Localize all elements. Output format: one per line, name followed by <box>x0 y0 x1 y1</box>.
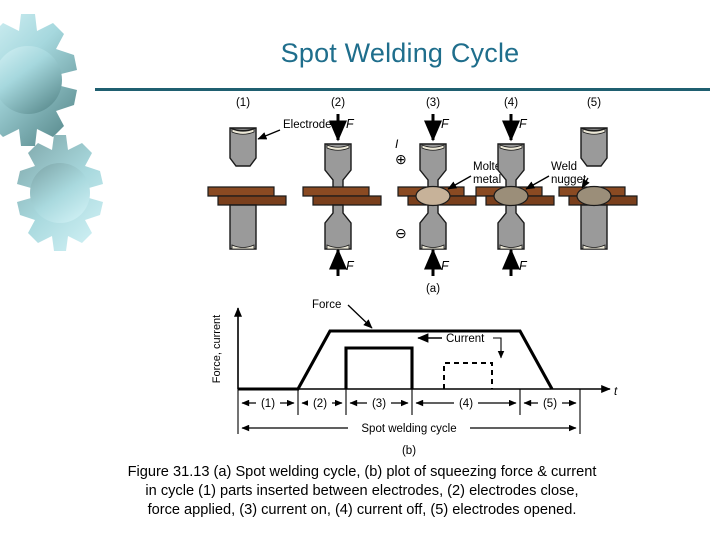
weld-nugget-4 <box>494 187 528 206</box>
current-symbol-I: I <box>395 137 399 151</box>
caption-line-3: force applied, (3) current on, (4) curre… <box>62 501 662 520</box>
figure-caption: Figure 31.13 (a) Spot welding cycle, (b)… <box>62 463 662 520</box>
chart-force-current: Force, current t Force Current <box>211 299 618 457</box>
chart-phase-label-4: (4) <box>459 398 473 410</box>
step-label-4: (4) <box>504 97 518 109</box>
chart-annotation-current: Current <box>446 333 485 345</box>
figure-sublabel-b: (b) <box>402 445 416 457</box>
gear-icon-small <box>17 135 103 251</box>
series-force <box>238 331 552 389</box>
molten-nugget-3 <box>416 187 450 206</box>
caption-line-1: Figure 31.13 (a) Spot welding cycle, (b)… <box>62 463 662 482</box>
chart-annotation-force: Force <box>312 299 341 311</box>
slide-canvas: Spot Welding Cycle <box>0 0 720 540</box>
caption-line-2: in cycle (1) parts inserted between elec… <box>62 482 662 501</box>
step-label-1: (1) <box>236 97 250 109</box>
annotation-molten-line2: metal <box>473 174 501 186</box>
chart-overall-label: Spot welding cycle <box>361 423 456 435</box>
force-label-bottom-3: F <box>441 259 450 273</box>
gear-icon-large <box>0 14 77 146</box>
polarity-minus-icon: ⊖ <box>395 225 407 241</box>
figure-sublabel-a: (a) <box>426 283 440 295</box>
annotation-nugget-line1: Weld <box>551 161 577 173</box>
force-label-bottom-4: F <box>519 259 528 273</box>
step-label-5: (5) <box>587 97 601 109</box>
force-label-top-2: F <box>346 117 355 131</box>
step-label-3: (3) <box>426 97 440 109</box>
chart-phase-label-2: (2) <box>313 398 327 410</box>
series-current-alternate <box>444 363 492 389</box>
annotation-electrode: Electrode <box>283 119 332 131</box>
chart-xlabel: t <box>614 386 618 398</box>
figure-illustration: (1) (2) (3) (4) (5) Electrode F <box>190 92 660 462</box>
chart-phase-label-3: (3) <box>372 398 386 410</box>
chart-phase-label-5: (5) <box>543 398 557 410</box>
series-current <box>346 348 412 389</box>
polarity-plus-icon: ⊕ <box>395 151 407 167</box>
step-label-2: (2) <box>331 97 345 109</box>
page-title: Spot Welding Cycle <box>95 38 705 69</box>
weld-step-5 <box>559 128 637 249</box>
annotation-nugget-line2: nugget <box>551 174 587 186</box>
force-label-top-4: F <box>519 117 528 131</box>
weld-step-1: Electrode <box>208 119 332 249</box>
force-label-bottom-2: F <box>346 259 355 273</box>
weld-step-2: F F <box>303 114 381 276</box>
chart-ylabel: Force, current <box>211 315 223 383</box>
chart-phase-label-1: (1) <box>261 398 275 410</box>
weld-nugget-5 <box>577 187 611 206</box>
force-label-top-3: F <box>441 117 450 131</box>
title-divider <box>95 88 710 91</box>
